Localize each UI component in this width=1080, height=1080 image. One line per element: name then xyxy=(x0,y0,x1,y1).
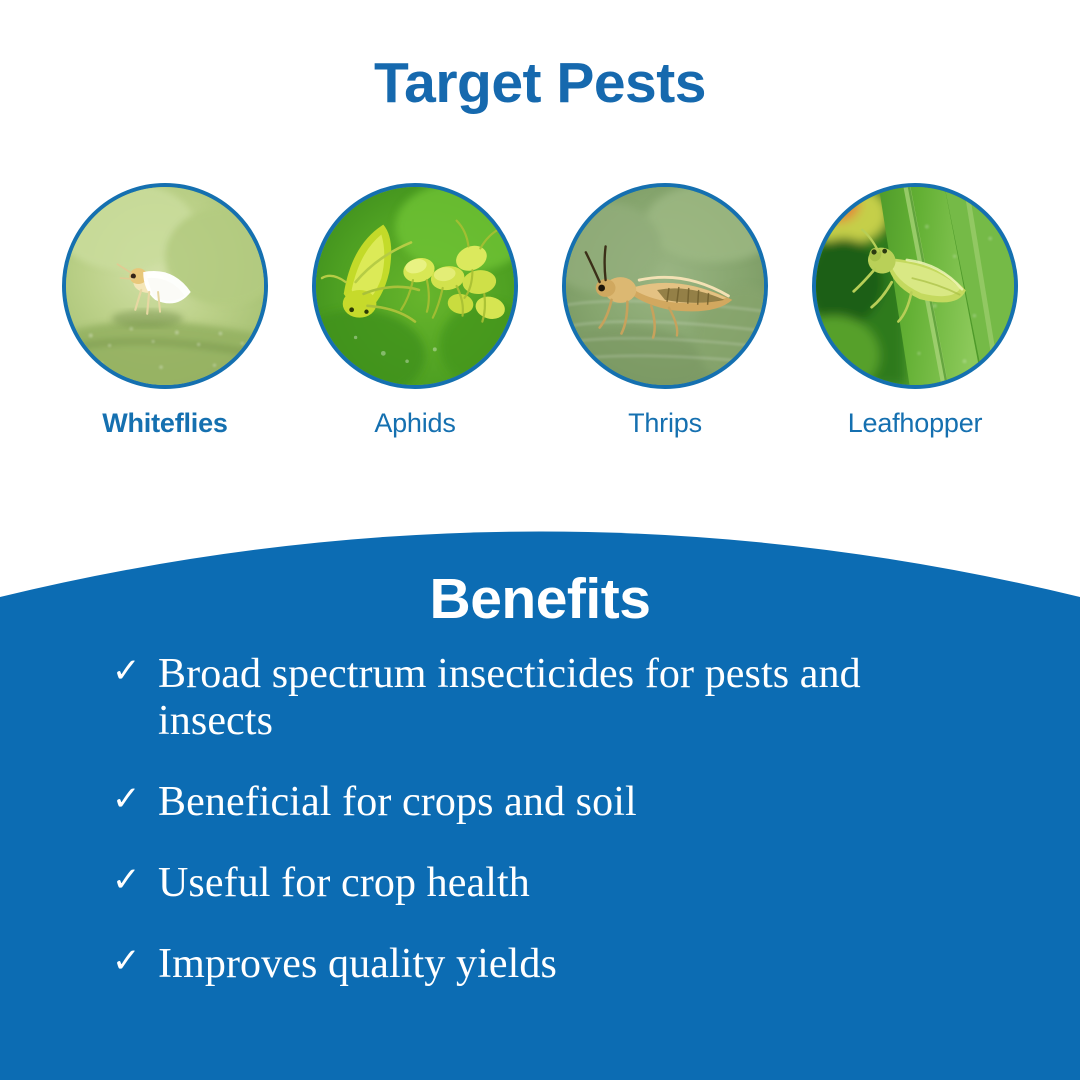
checkmark-icon: ✓ xyxy=(112,860,158,901)
benefit-item: ✓ Improves quality yields xyxy=(112,941,1012,988)
pest-card-aphids[interactable]: Aphids xyxy=(290,183,540,439)
pest-card-thrips[interactable]: Thrips xyxy=(540,183,790,439)
page-title: Target Pests xyxy=(0,52,1080,115)
benefit-text: Improves quality yields xyxy=(158,941,557,988)
aphids-photo xyxy=(312,183,518,389)
benefits-list: ✓ Broad spectrum insecticides for pests … xyxy=(112,651,1012,988)
leafhopper-photo xyxy=(812,183,1018,389)
checkmark-icon: ✓ xyxy=(112,941,158,982)
benefit-item: ✓ Beneficial for crops and soil xyxy=(112,779,1012,826)
pest-label-aphids: Aphids xyxy=(374,408,455,439)
target-pests-gallery: Whiteflies xyxy=(0,183,1080,453)
target-pests-poster: Target Pests xyxy=(0,0,1080,1080)
benefits-title: Benefits xyxy=(0,568,1080,631)
benefit-text: Useful for crop health xyxy=(158,860,530,907)
thrips-photo xyxy=(562,183,768,389)
pest-label-leafhopper: Leafhopper xyxy=(848,408,983,439)
checkmark-icon: ✓ xyxy=(112,779,158,820)
pest-card-leafhopper[interactable]: Leafhopper xyxy=(790,183,1040,439)
benefit-item: ✓ Broad spectrum insecticides for pests … xyxy=(112,651,1012,745)
benefit-text: Broad spectrum insecticides for pests an… xyxy=(158,651,978,745)
whitefly-photo xyxy=(62,183,268,389)
pest-card-whiteflies[interactable]: Whiteflies xyxy=(40,183,290,439)
pest-label-whiteflies: Whiteflies xyxy=(102,408,228,439)
benefit-item: ✓ Useful for crop health xyxy=(112,860,1012,907)
checkmark-icon: ✓ xyxy=(112,651,158,692)
benefit-text: Beneficial for crops and soil xyxy=(158,779,637,826)
pest-label-thrips: Thrips xyxy=(628,408,702,439)
